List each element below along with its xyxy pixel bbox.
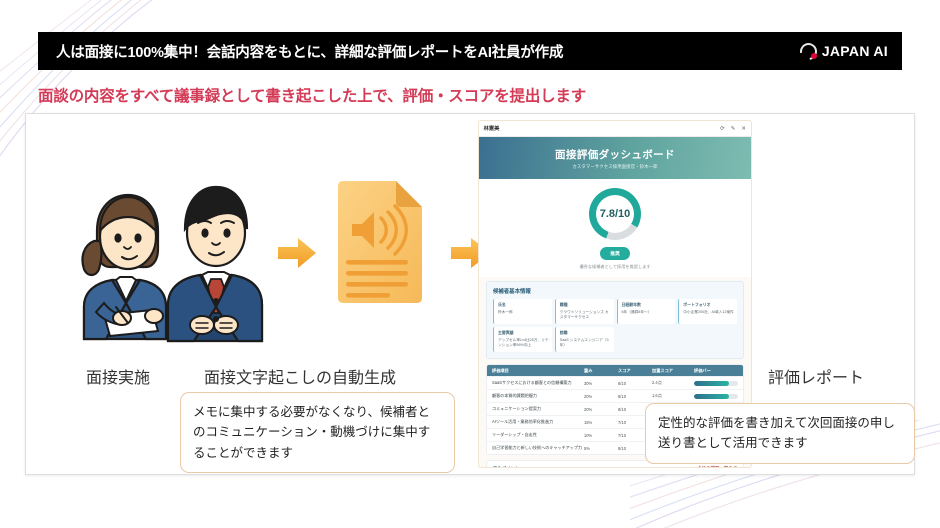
evaluation-weight: 10% (584, 433, 618, 438)
evaluation-weighted: 1.6点 (652, 393, 694, 399)
evaluation-bar-fill (694, 381, 729, 386)
dashboard-hero: 面接評価ダッシュボード カスタマーサクセス採用面接官・鈴木一郎 (479, 137, 751, 179)
evaluation-column-header: 重み (584, 368, 618, 374)
info-card-value: クラウドソリューションズ カスタマーサクセス (560, 310, 611, 321)
evaluation-column-header: 加重スコア (652, 368, 694, 374)
candidate-info-grid: 氏名鈴木一郎職種クラウドソリューションズ カスタマーサクセス日経験年数6年（通算… (493, 299, 737, 352)
dashboard-title: 面接評価ダッシュボード (555, 147, 675, 162)
overall-score-block: 7.8/10 推奨 優秀な候補者として採用を推奨します (479, 179, 751, 277)
info-card-label: 前職 (560, 330, 611, 336)
step-caption-transcript: 面接文字起こしの自動生成 (204, 364, 396, 388)
evaluation-weight: 20% (584, 394, 618, 399)
info-card-label: 日経験年数 (622, 302, 673, 308)
evaluation-column-header: 評価バー (694, 368, 738, 374)
refresh-icon[interactable]: ⟳ (720, 126, 725, 132)
brand-logo: JAPAN AI (800, 43, 888, 60)
candidate-info-card: 職種クラウドソリューションズ カスタマーサクセス (555, 299, 614, 324)
evaluation-name: AIツール活用・業務効率化推進力 (492, 419, 584, 425)
info-card-value: アップセル率Lv4比25万、リテンション率96%向上 (498, 338, 549, 349)
recommendation-note: 優秀な候補者として採用を推奨します (579, 264, 650, 270)
candidate-info-card: 前職SaaS システムエンジニア（3年） (555, 327, 614, 352)
evaluation-bar (694, 381, 738, 386)
table-row: 顧客の本質的課題把握力20%8/101.6点 (487, 389, 743, 402)
score-gauge: 7.8/10 (589, 188, 641, 240)
info-card-label: 氏名 (498, 302, 549, 308)
edit-icon[interactable]: ✎ (731, 126, 736, 132)
evaluation-name: コミュニケーション提案力 (492, 406, 584, 412)
evaluation-score: 8/10 (618, 381, 652, 386)
info-card-label: 主要実績 (498, 330, 549, 336)
evaluation-weight: 5% (584, 446, 618, 451)
candidate-info-card: 日経験年数6年（通算8年〜） (617, 299, 676, 324)
evaluation-weight: 15% (584, 420, 618, 425)
arrow-right-icon (276, 236, 318, 275)
evaluation-table-header: 評価項目重みスコア加重スコア評価バー (487, 365, 743, 376)
callout-left: メモに集中する必要がなくなり、候補者とのコミュニケーション・動機づけに集中するこ… (180, 392, 455, 473)
info-card-value: 鈴木一郎 (498, 310, 549, 315)
issues-group: 今後の課題・懸念点 英語対応力の強化 (618, 466, 737, 468)
table-row: SaaSサクセスにおける顧客との信頼構築力30%8/102.4点 (487, 376, 743, 389)
candidate-info-section: 候補者基本情報 氏名鈴木一郎職種クラウドソリューションズ カスタマーサクセス日経… (486, 281, 744, 359)
evaluation-column-header: スコア (618, 368, 652, 374)
evaluation-weighted: 2.4点 (652, 380, 694, 386)
interview-people-illustration (66, 179, 271, 349)
slide-root: 人は面接に100%集中！会話内容をもとに、詳細な評価レポートをAI社員が作成 J… (0, 0, 940, 528)
audio-document-icon (334, 180, 426, 310)
candidate-info-title: 候補者基本情報 (493, 287, 737, 295)
process-flow (61, 174, 501, 354)
evaluation-name: リーダーシップ・自走性 (492, 432, 584, 438)
header-bar: 人は面接に100%集中！会話内容をもとに、詳細な評価レポートをAI社員が作成 J… (38, 32, 902, 70)
recommendation-badge: 推奨 (600, 247, 630, 260)
step-caption-interview: 面接実施 (86, 364, 150, 388)
dashboard-titlebar: 林憲美 ⟳ ✎ ✕ (479, 121, 751, 137)
candidate-info-card: 主要実績アップセル率Lv4比25万、リテンション率96%向上 (493, 327, 552, 352)
strengths-title: 強みポイント (493, 466, 612, 468)
dashboard-subtitle: カスタマーサクセス採用面接官・鈴木一郎 (572, 164, 657, 170)
evaluation-name: 顧客の本質的課題把握力 (492, 393, 584, 399)
window-controls[interactable]: ⟳ ✎ ✕ (720, 126, 746, 132)
brand-name: JAPAN AI (822, 43, 888, 59)
info-card-value: SaaS システムエンジニア（3年） (560, 338, 611, 349)
evaluation-name: SaaSサクセスにおける顧客との信頼構築力 (492, 380, 584, 386)
info-card-label: ポートフォリオ (683, 302, 734, 308)
issues-title: 今後の課題・懸念点 (618, 466, 737, 468)
evaluation-weight: 30% (584, 381, 618, 386)
subtitle: 面談の内容をすべて議事録として書き起こした上で、評価・スコアを提出します (38, 84, 586, 106)
candidate-info-card: ポートフォリオ中小企業200社、AI導入12案件 (678, 299, 737, 324)
evaluation-weight: 20% (584, 407, 618, 412)
callout-right: 定性的な評価を書き加えて次回面接の申し送り書として活用できます (645, 403, 915, 464)
dashboard-tab-name: 林憲美 (484, 125, 500, 132)
evaluation-name: 自己学習能力と新しい技術へのキャッチアップ力 (492, 445, 584, 451)
info-card-value: 中小企業200社、AI導入12案件 (683, 310, 734, 315)
strengths-group: 強みポイント 顧客との信頼構築 (493, 466, 612, 468)
page-title: 人は面接に100%集中！会話内容をもとに、詳細な評価レポートをAI社員が作成 (56, 41, 800, 62)
info-card-label: 職種 (560, 302, 611, 308)
evaluation-bar-fill (694, 394, 729, 399)
info-card-value: 6年（通算8年〜） (622, 310, 673, 315)
step-caption-report: 評価レポート (768, 364, 864, 388)
candidate-info-card: 氏名鈴木一郎 (493, 299, 552, 324)
japan-ai-circle-icon (800, 43, 817, 60)
evaluation-bar (694, 394, 738, 399)
score-value: 7.8/10 (600, 208, 631, 220)
close-icon[interactable]: ✕ (741, 126, 746, 132)
evaluation-column-header: 評価項目 (492, 368, 584, 374)
evaluation-score: 8/10 (618, 394, 652, 399)
